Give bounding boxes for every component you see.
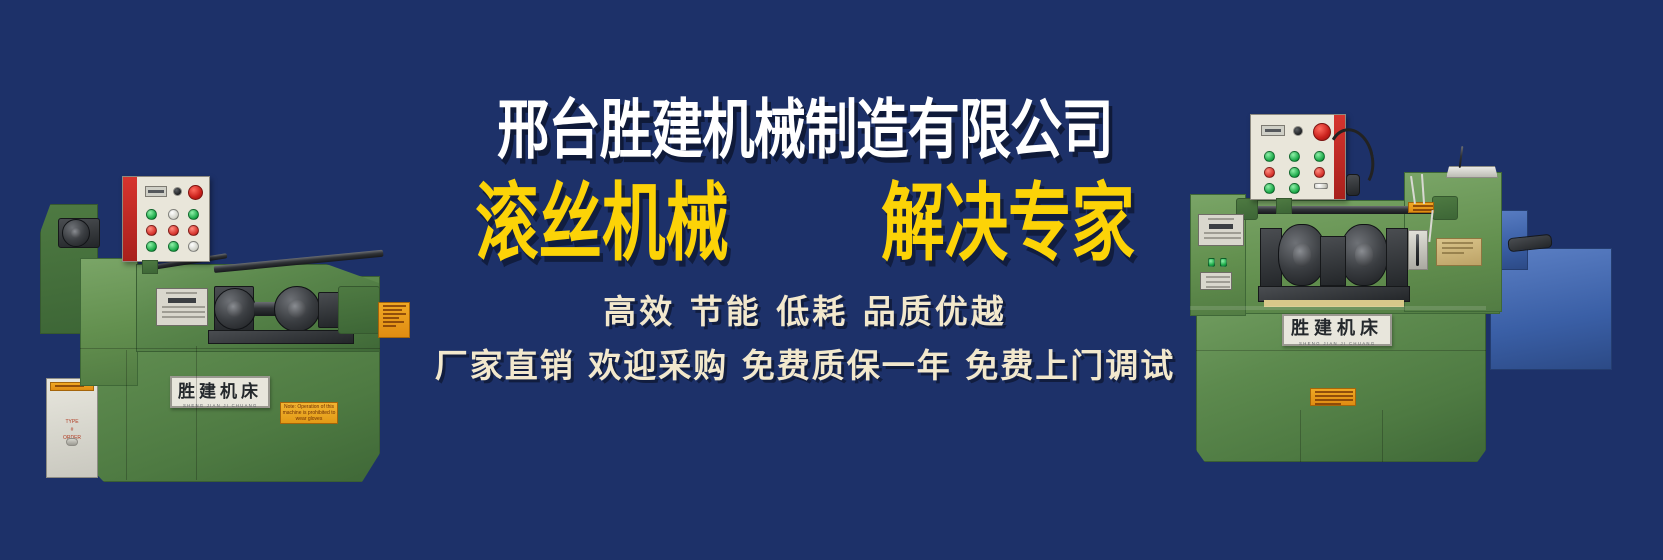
machine-left-nameplate: 胜建机床 SHENG JIAN JI CHUANG (170, 376, 270, 408)
machine-right-nameplate-pinyin: SHENG JIAN JI CHUANG (1299, 341, 1375, 346)
machine-right-brass-plate (1436, 238, 1482, 266)
machine-right-die-slide-right (1386, 228, 1408, 290)
machine-left-roller-die-b (274, 286, 320, 332)
machine-right-roller-die-b (1340, 224, 1388, 286)
machine-left-cabinet-knob (66, 438, 78, 446)
headline-row: 滚丝机械 解决专家 (400, 187, 1210, 259)
banner-text-block: 邢台胜建机械制造有限公司 滚丝机械 解决专家 高效 节能 低耗 品质优越 厂家直… (400, 96, 1210, 382)
tagline-primary: 高效 节能 低耗 品质优越 (400, 295, 1210, 328)
machine-right-panel-display (1261, 125, 1285, 136)
machine-left-panel-button[interactable] (146, 209, 157, 220)
machine-right-panel-button[interactable] (1314, 167, 1325, 178)
machine-left-panel-button[interactable] (188, 209, 199, 220)
machine-left-panel-accent (123, 177, 137, 261)
company-title: 邢台胜建机械制造有限公司 (441, 96, 1170, 164)
machine-left-bearing-hub (62, 219, 90, 247)
machine-right-panel-button[interactable] (1314, 183, 1328, 189)
machine-left-panel-knob[interactable] (173, 187, 182, 196)
machine-left-seam (80, 348, 380, 349)
machine-right-panel-button[interactable] (1289, 183, 1300, 194)
machine-right-terminal-block (1408, 202, 1434, 213)
machine-left-emergency-stop-button[interactable] (188, 185, 203, 200)
machine-right-orange-sticker (1310, 388, 1356, 406)
machine-left-seam (126, 350, 127, 480)
machine-left-control-panel[interactable] (122, 176, 210, 262)
machine-right-cable-gland (1346, 174, 1360, 196)
machine-right-panel-knob[interactable] (1293, 126, 1303, 136)
machine-right-antenna-rod (1459, 146, 1464, 168)
machine-right-lubricator-rod (1416, 234, 1419, 266)
machine-right-panel-post (1276, 198, 1292, 214)
machine-left-seam (196, 346, 197, 480)
machine-left-panel-button[interactable] (168, 209, 179, 220)
machine-left-panel-button[interactable] (146, 241, 157, 252)
machine-left-warning-text: Note: Operation of this machine is prohi… (282, 404, 336, 423)
machine-left-nameplate-cn: 胜建机床 (178, 377, 262, 402)
promo-banner: TYPE # ORDER (0, 0, 1663, 560)
machine-left-spec-plate (156, 288, 208, 326)
machine-left-tailstock (338, 286, 380, 334)
machine-left-die-block-b (318, 292, 340, 328)
machine-left-roller-die-a (214, 288, 256, 330)
machine-right-seam (1196, 350, 1486, 351)
machine-right-toggle-switch[interactable] (1220, 258, 1227, 267)
machine-right-top-cover-plate (1446, 166, 1498, 178)
machine-right-panel-button[interactable] (1264, 183, 1275, 194)
machine-right-die-center-block (1320, 236, 1346, 286)
machine-left-panel-post (142, 260, 158, 274)
machine-left-column (80, 258, 138, 386)
machine-left-panel-button[interactable] (188, 241, 199, 252)
machine-right-rail-mount-right (1432, 196, 1458, 220)
tagline-secondary: 厂家直销 欢迎采购 免费质保一年 免费上门调试 (400, 349, 1210, 382)
machine-left-warning-label: Note: Operation of this machine is prohi… (280, 402, 338, 424)
machine-right-panel-button[interactable] (1314, 151, 1325, 162)
machine-left-nameplate-pinyin: SHENG JIAN JI CHUANG (183, 403, 258, 408)
machine-right-seam (1382, 410, 1383, 462)
machine-left-carriage (208, 330, 354, 344)
machine-left-panel-button[interactable] (188, 225, 199, 236)
machine-right-nameplate: 胜建机床 SHENG JIAN JI CHUANG (1282, 314, 1392, 346)
machine-left-panel-button[interactable] (168, 225, 179, 236)
machine-right-panel-button[interactable] (1264, 151, 1275, 162)
machine-right-seam (1300, 410, 1301, 462)
machine-right-panel-button[interactable] (1289, 167, 1300, 178)
headline-right: 解决专家 (881, 180, 1134, 265)
machine-right-roller-die-a (1278, 224, 1326, 286)
machine-left-panel-display (145, 186, 167, 197)
machine-right-panel-button[interactable] (1289, 151, 1300, 162)
machine-image-right: 胜建机床 SHENG JIAN JI CHUANG (1160, 110, 1660, 470)
machine-right-nameplate-cn: 胜建机床 (1291, 314, 1383, 340)
machine-right-panel-button[interactable] (1264, 167, 1275, 178)
machine-image-left: TYPE # ORDER (18, 80, 438, 500)
machine-right-top-highlight (1190, 306, 1486, 310)
machine-left-panel-button[interactable] (168, 241, 179, 252)
headline-left: 滚丝机械 (475, 180, 728, 265)
machine-right-emergency-stop-button[interactable] (1313, 123, 1331, 141)
machine-left-panel-button[interactable] (146, 225, 157, 236)
